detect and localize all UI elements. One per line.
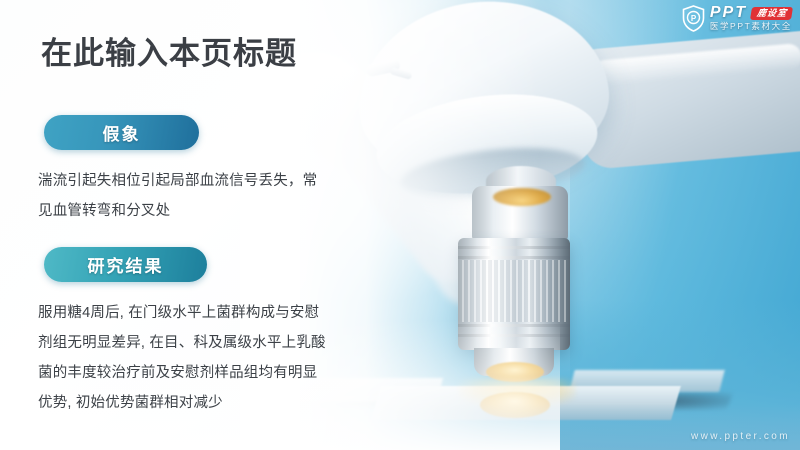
site-watermark: www.ppter.com: [691, 431, 790, 442]
logo-brand-text: PPT: [710, 5, 747, 21]
brand-logo: P PPT 鹿设室 医学PPT素材大全: [682, 3, 792, 33]
section-badge-assumption: 假象: [44, 115, 199, 150]
slide: 在此输入本页标题 假象 湍流引起失相位引起局部血流信号丢失，常 见血管转弯和分叉…: [0, 0, 800, 450]
logo-text-group: PPT 鹿设室 医学PPT素材大全: [710, 5, 792, 31]
section-badge-results: 研究结果: [44, 247, 207, 282]
logo-subtitle: 医学PPT素材大全: [710, 22, 792, 31]
body-line: 服用糖4周后, 在门级水平上菌群构成与安慰: [38, 298, 358, 328]
shield-icon: P: [682, 5, 705, 32]
body-line: 菌的丰度较治疗前及安慰剂样品组均有明显: [38, 358, 358, 388]
section-body-assumption: 湍流引起失相位引起局部血流信号丢失，常 见血管转弯和分叉处: [38, 166, 358, 226]
body-line: 优势, 初始优势菌群相对减少: [38, 388, 358, 418]
body-line: 剂组无明显差异, 在目、科及属级水平上乳酸: [38, 328, 358, 358]
logo-tag-badge: 鹿设室: [750, 7, 793, 20]
section-badge-label: 假象: [103, 120, 141, 145]
page-title: 在此输入本页标题: [41, 28, 297, 73]
section-badge-label: 研究结果: [88, 252, 164, 277]
body-line: 见血管转弯和分叉处: [38, 196, 358, 226]
section-body-results: 服用糖4周后, 在门级水平上菌群构成与安慰 剂组无明显差异, 在目、科及属级水平…: [38, 298, 358, 418]
logo-primary-row: PPT 鹿设室: [710, 5, 792, 21]
svg-text:P: P: [691, 14, 697, 23]
body-line: 湍流引起失相位引起局部血流信号丢失，常: [38, 166, 358, 196]
slide-content: 在此输入本页标题 假象 湍流引起失相位引起局部血流信号丢失，常 见血管转弯和分叉…: [0, 0, 800, 450]
